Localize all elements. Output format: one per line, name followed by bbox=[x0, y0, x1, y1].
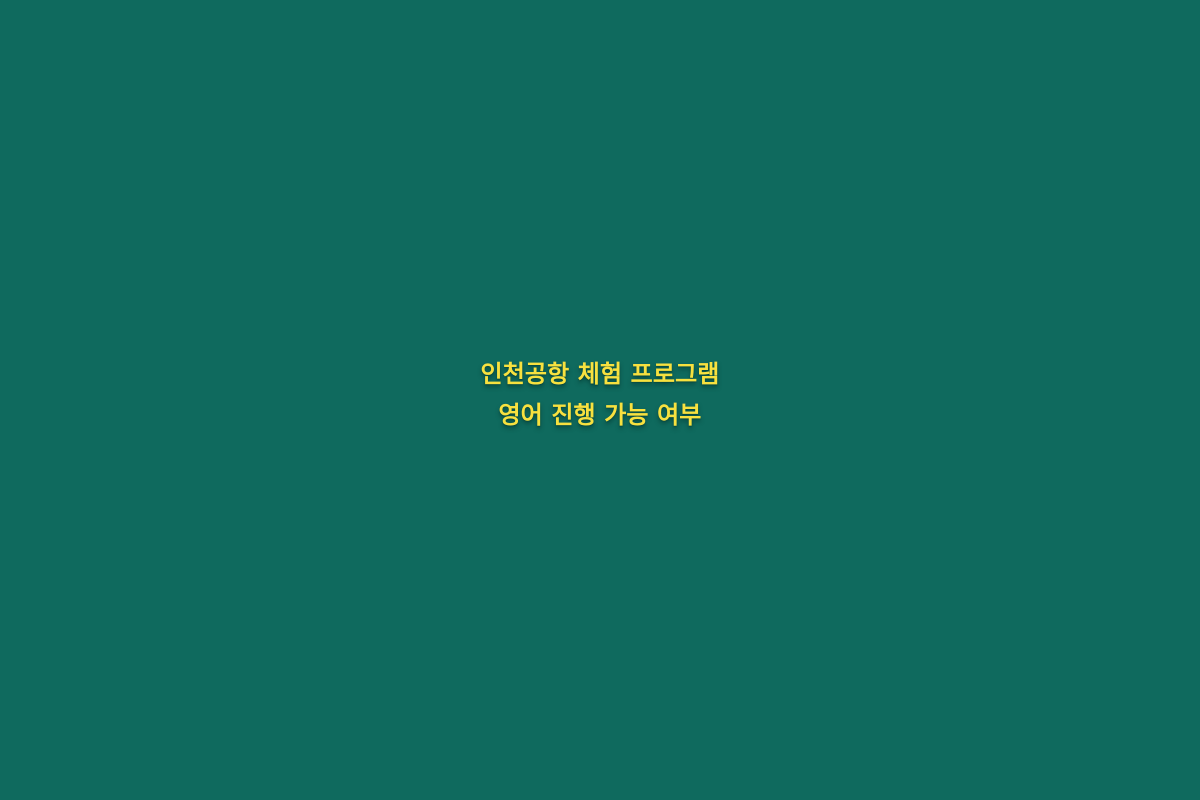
text-banner: 인천공항 체험 프로그램 영어 진행 가능 여부 bbox=[0, 0, 1200, 800]
headline-block: 인천공항 체험 프로그램 영어 진행 가능 여부 bbox=[0, 361, 1200, 429]
headline-line-1: 인천공항 체험 프로그램 bbox=[40, 361, 1160, 388]
headline-line-2: 영어 진행 가능 여부 bbox=[40, 402, 1160, 429]
